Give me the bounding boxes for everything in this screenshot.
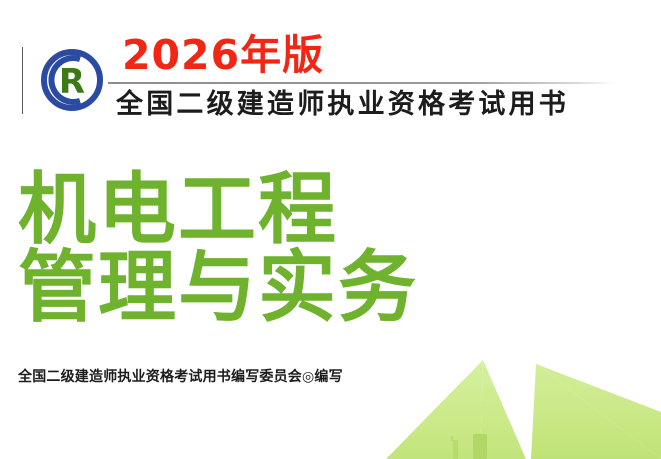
edition-year-badge: 2026年版 (122, 33, 324, 77)
green-mountain-triangles-icon (378, 352, 661, 459)
circle-c-r-logo: R (36, 44, 108, 116)
book-title: 机电工程 管理与实务 (18, 168, 418, 330)
book-title-line-2: 管理与实务 (18, 246, 418, 330)
book-title-line-1: 机电工程 (18, 168, 418, 252)
book-cover: R 2026年版 全国二级建造师执业资格考试用书 机电工程 管理与实务 全国二级… (0, 0, 661, 459)
cover-header: R 2026年版 全国二级建造师执业资格考试用书 (0, 0, 661, 140)
header-vertical-rule (22, 47, 23, 114)
header-divider (108, 82, 616, 84)
author-byline: 全国二级建造师执业资格考试用书编写委员会◎编写 (18, 367, 343, 385)
exam-series-subtitle: 全国二级建造师执业资格考试用书 (116, 88, 569, 120)
svg-text:R: R (59, 62, 85, 102)
